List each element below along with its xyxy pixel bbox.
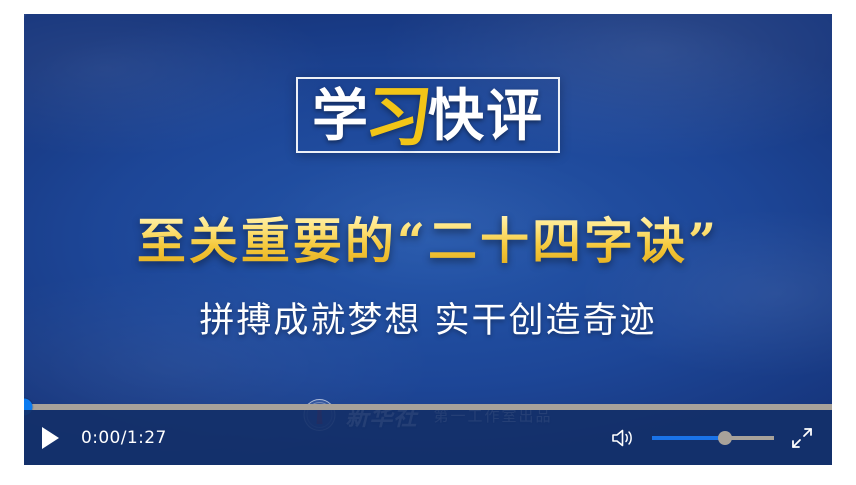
video-player[interactable]: 学习快评 至关重要的“二十四字诀” 拼搏成就梦想 实干创造奇迹 新华社 第一工作… xyxy=(24,14,832,465)
program-logo-text-highlight: 习 xyxy=(362,84,435,150)
program-logo: 学习快评 xyxy=(296,77,560,153)
volume-filled xyxy=(652,436,725,440)
fullscreen-icon[interactable] xyxy=(790,426,814,450)
player-controls: 0:00/1:27 xyxy=(24,410,832,465)
time-display: 0:00/1:27 xyxy=(81,428,167,448)
volume-handle[interactable] xyxy=(718,431,732,445)
volume-icon[interactable] xyxy=(610,427,636,449)
video-subtitle: 拼搏成就梦想 实干创造奇迹 xyxy=(24,292,832,343)
controls-right-group xyxy=(610,426,814,450)
program-logo-text-2: 快评 xyxy=(428,88,544,144)
play-icon[interactable] xyxy=(42,427,59,449)
controls-left-group: 0:00/1:27 xyxy=(42,427,167,449)
page-root: 学习快评 至关重要的“二十四字诀” 拼搏成就梦想 实干创造奇迹 新华社 第一工作… xyxy=(0,0,856,485)
program-logo-text-1: 学 xyxy=(312,88,370,144)
volume-slider[interactable] xyxy=(652,431,774,445)
video-headline: 至关重要的“二十四字诀” xyxy=(24,202,832,273)
